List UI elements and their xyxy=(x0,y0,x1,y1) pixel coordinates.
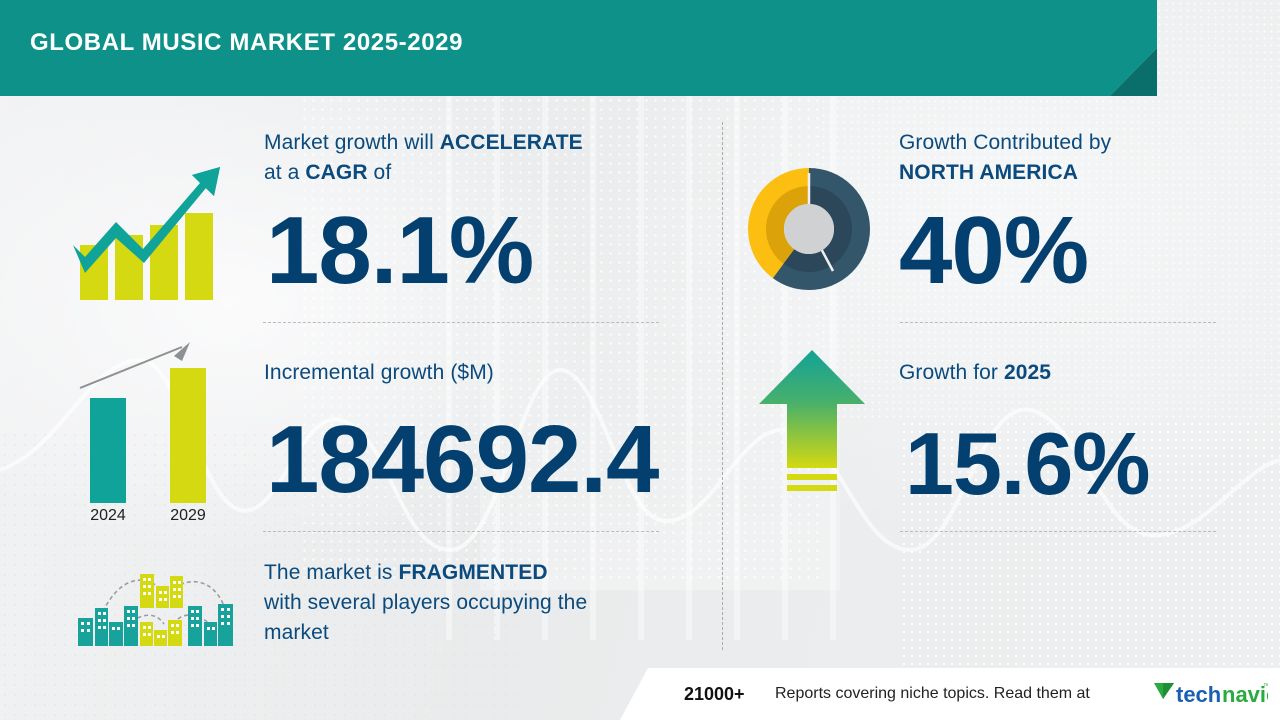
technavio-logo[interactable]: tech navio ™ xyxy=(1152,679,1268,709)
fragmented-lead-pre-3: market xyxy=(264,621,329,644)
donut-chart-icon xyxy=(745,165,873,293)
up-arrow-gradient-icon xyxy=(757,348,867,508)
growth-2025-value: 15.6% xyxy=(905,420,1150,508)
left-divider-2 xyxy=(263,531,659,532)
right-divider-1 xyxy=(900,322,1216,323)
bar-label-2024: 2024 xyxy=(90,507,126,520)
growth-2025-lead-strong-1: 2025 xyxy=(1004,361,1051,384)
cagr-lead-post-2: of xyxy=(368,161,392,184)
two-bar-comparison-icon: 2024 2029 xyxy=(70,330,230,520)
cagr-lead-pre-1: Market growth will xyxy=(264,131,440,154)
infographic-canvas: GLOBAL MUSIC MARKET 2025-2029 Market gro… xyxy=(0,0,1280,720)
footer-tagline: Reports covering niche topics. Read them… xyxy=(775,685,1090,703)
north-america-lead-pre-1: Growth Contributed by xyxy=(899,131,1111,154)
cagr-lead-pre-2: at a xyxy=(264,161,305,184)
cagr-value: 18.1% xyxy=(266,203,533,299)
report-count: 21000+ xyxy=(684,684,745,705)
trademark-symbol: ™ xyxy=(1263,683,1268,690)
bar-label-2029: 2029 xyxy=(170,507,206,520)
right-divider-2 xyxy=(900,531,1216,532)
technavio-wordmark-navio: navio xyxy=(1222,682,1268,707)
left-divider-1 xyxy=(263,322,659,323)
footer-bar: 21000+ Reports covering niche topics. Re… xyxy=(0,668,1280,720)
cagr-lead-strong-2: CAGR xyxy=(305,161,367,184)
column-divider xyxy=(722,122,723,650)
growth-2025-lead-text: Growth for 2025 xyxy=(899,358,1229,388)
growth-arrow-bars-icon xyxy=(68,150,238,300)
page-title: GLOBAL MUSIC MARKET 2025-2029 xyxy=(30,29,463,57)
growth-2025-lead-pre-1: Growth for xyxy=(899,361,1004,384)
cagr-lead-strong-1: ACCELERATE xyxy=(440,131,583,154)
north-america-value: 40% xyxy=(899,203,1088,299)
city-network-icon xyxy=(78,560,243,660)
incremental-lead-pre-1: Incremental growth ($M) xyxy=(264,361,494,384)
north-america-lead-text: Growth Contributed by NORTH AMERICA xyxy=(899,128,1229,188)
fragmented-lead-pre-2: with several players occupying the xyxy=(264,591,587,614)
incremental-value: 184692.4 xyxy=(266,412,658,508)
incremental-lead-text: Incremental growth ($M) xyxy=(264,358,684,388)
fragmented-lead-text: The market is FRAGMENTED with several pl… xyxy=(264,558,694,648)
technavio-wordmark-tech: tech xyxy=(1176,682,1221,707)
fragmented-lead-strong-1: FRAGMENTED xyxy=(398,561,547,584)
cagr-lead-text: Market growth will ACCELERATE at a CAGR … xyxy=(264,128,684,188)
fragmented-lead-pre-1: The market is xyxy=(264,561,398,584)
header-band: GLOBAL MUSIC MARKET 2025-2029 xyxy=(0,0,1280,96)
north-america-lead-strong-2: NORTH AMERICA xyxy=(899,161,1078,184)
